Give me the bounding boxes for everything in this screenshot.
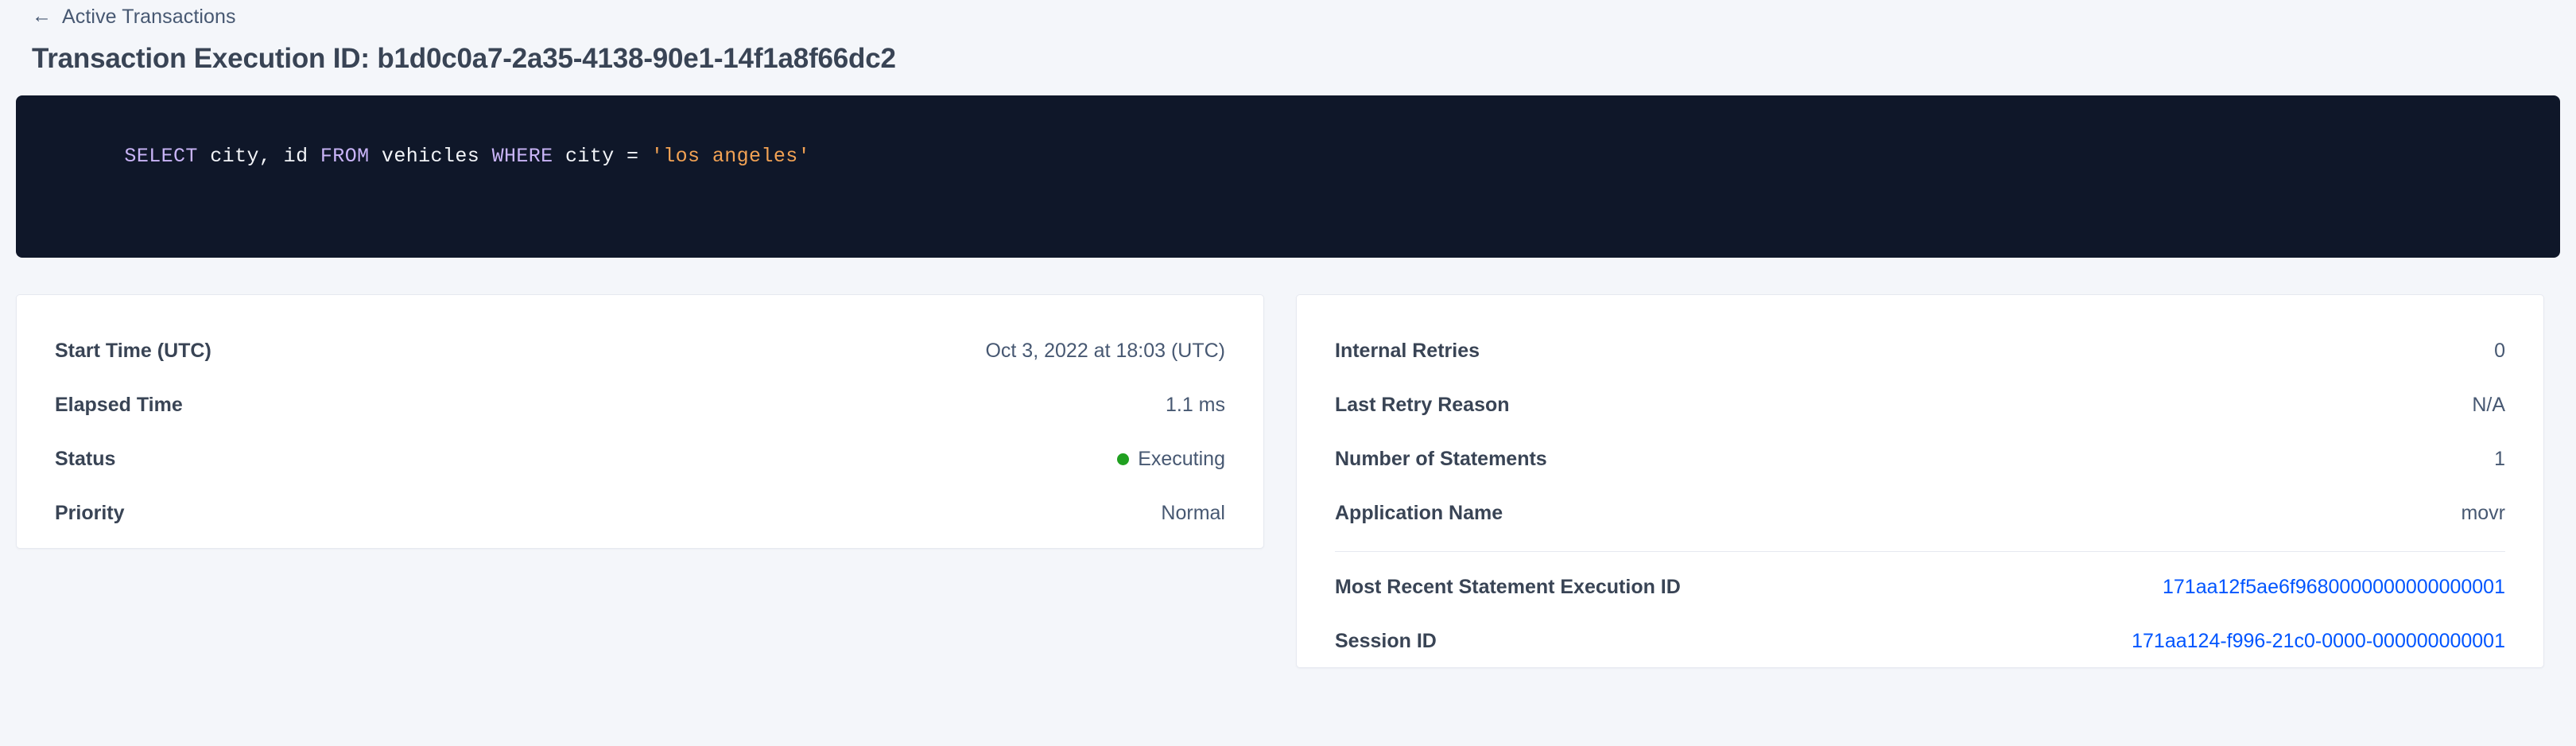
sql-statement-line: SELECT city, id FROM vehicles WHERE city…	[51, 121, 2560, 192]
row-label: Last Retry Reason	[1335, 394, 1510, 417]
arrow-left-icon[interactable]: ←	[32, 6, 52, 26]
row-label: Elapsed Time	[55, 394, 183, 417]
row-most-recent-statement-execution-id: Most Recent Statement Execution ID 171aa…	[1335, 560, 2505, 614]
statement-execution-id-link[interactable]: 171aa12f5ae6f9680000000000000001	[2163, 576, 2505, 599]
sql-space-5	[479, 145, 491, 168]
breadcrumb[interactable]: ← Active Transactions	[16, 0, 2560, 33]
sql-code-block: SELECT city, id FROM vehicles WHERE city…	[16, 95, 2560, 258]
row-value: 1.1 ms	[1166, 394, 1225, 417]
row-value: Oct 3, 2022 at 18:03 (UTC)	[985, 340, 1225, 363]
row-label: Most Recent Statement Execution ID	[1335, 576, 1681, 599]
row-label: Status	[55, 448, 115, 471]
sql-space-4	[370, 145, 382, 168]
row-elapsed-time: Elapsed Time 1.1 ms	[55, 378, 1225, 432]
transaction-details-page: ← Active Transactions Transaction Execut…	[0, 0, 2576, 746]
row-last-retry-reason: Last Retry Reason N/A	[1335, 378, 2505, 432]
row-label: Start Time (UTC)	[55, 340, 211, 363]
breadcrumb-label[interactable]: Active Transactions	[62, 6, 236, 29]
row-label: Internal Retries	[1335, 340, 1480, 363]
row-value: N/A	[2472, 394, 2505, 417]
sql-space-2	[271, 145, 283, 168]
row-priority: Priority Normal	[55, 486, 1225, 540]
status-badge: Executing	[1138, 448, 1225, 471]
row-label: Session ID	[1335, 630, 1437, 653]
sql-token-id: id	[284, 145, 308, 168]
sql-space-3	[308, 145, 320, 168]
sql-token-string: 'los angeles'	[651, 145, 810, 168]
sql-token-equals: =	[615, 145, 651, 168]
sql-token-vehicles: vehicles	[382, 145, 479, 168]
session-id-link[interactable]: 171aa124-f996-21c0-0000-000000000001	[2132, 630, 2505, 653]
sql-token-where: WHERE	[492, 145, 553, 168]
page-title: Transaction Execution ID: b1d0c0a7-2a35-…	[16, 43, 2560, 75]
transaction-stats-card: Internal Retries 0 Last Retry Reason N/A…	[1296, 294, 2544, 668]
sql-space-1	[198, 145, 210, 168]
card-divider	[1335, 551, 2505, 552]
row-label: Number of Statements	[1335, 448, 1547, 471]
row-value: Normal	[1161, 502, 1225, 525]
row-internal-retries: Internal Retries 0	[1335, 324, 2505, 378]
row-value: movr	[2461, 502, 2505, 525]
row-start-time: Start Time (UTC) Oct 3, 2022 at 18:03 (U…	[55, 324, 1225, 378]
status-dot-icon	[1117, 453, 1129, 465]
sql-token-select: SELECT	[124, 145, 197, 168]
row-session-id: Session ID 171aa124-f996-21c0-0000-00000…	[1335, 614, 2505, 668]
row-application-name: Application Name movr	[1335, 486, 2505, 540]
sql-space-6	[553, 145, 565, 168]
row-label: Priority	[55, 502, 125, 525]
row-number-of-statements: Number of Statements 1	[1335, 432, 2505, 486]
row-label: Application Name	[1335, 502, 1503, 525]
row-value-status: Executing	[1117, 448, 1225, 471]
sql-token-city: city	[565, 145, 615, 168]
row-status: Status Executing	[55, 432, 1225, 486]
details-cards: Start Time (UTC) Oct 3, 2022 at 18:03 (U…	[16, 294, 2560, 668]
transaction-summary-card: Start Time (UTC) Oct 3, 2022 at 18:03 (U…	[16, 294, 1264, 549]
row-value: 0	[2494, 340, 2505, 363]
sql-token-city-list: city,	[210, 145, 271, 168]
sql-token-from: FROM	[320, 145, 370, 168]
row-value: 1	[2494, 448, 2505, 471]
